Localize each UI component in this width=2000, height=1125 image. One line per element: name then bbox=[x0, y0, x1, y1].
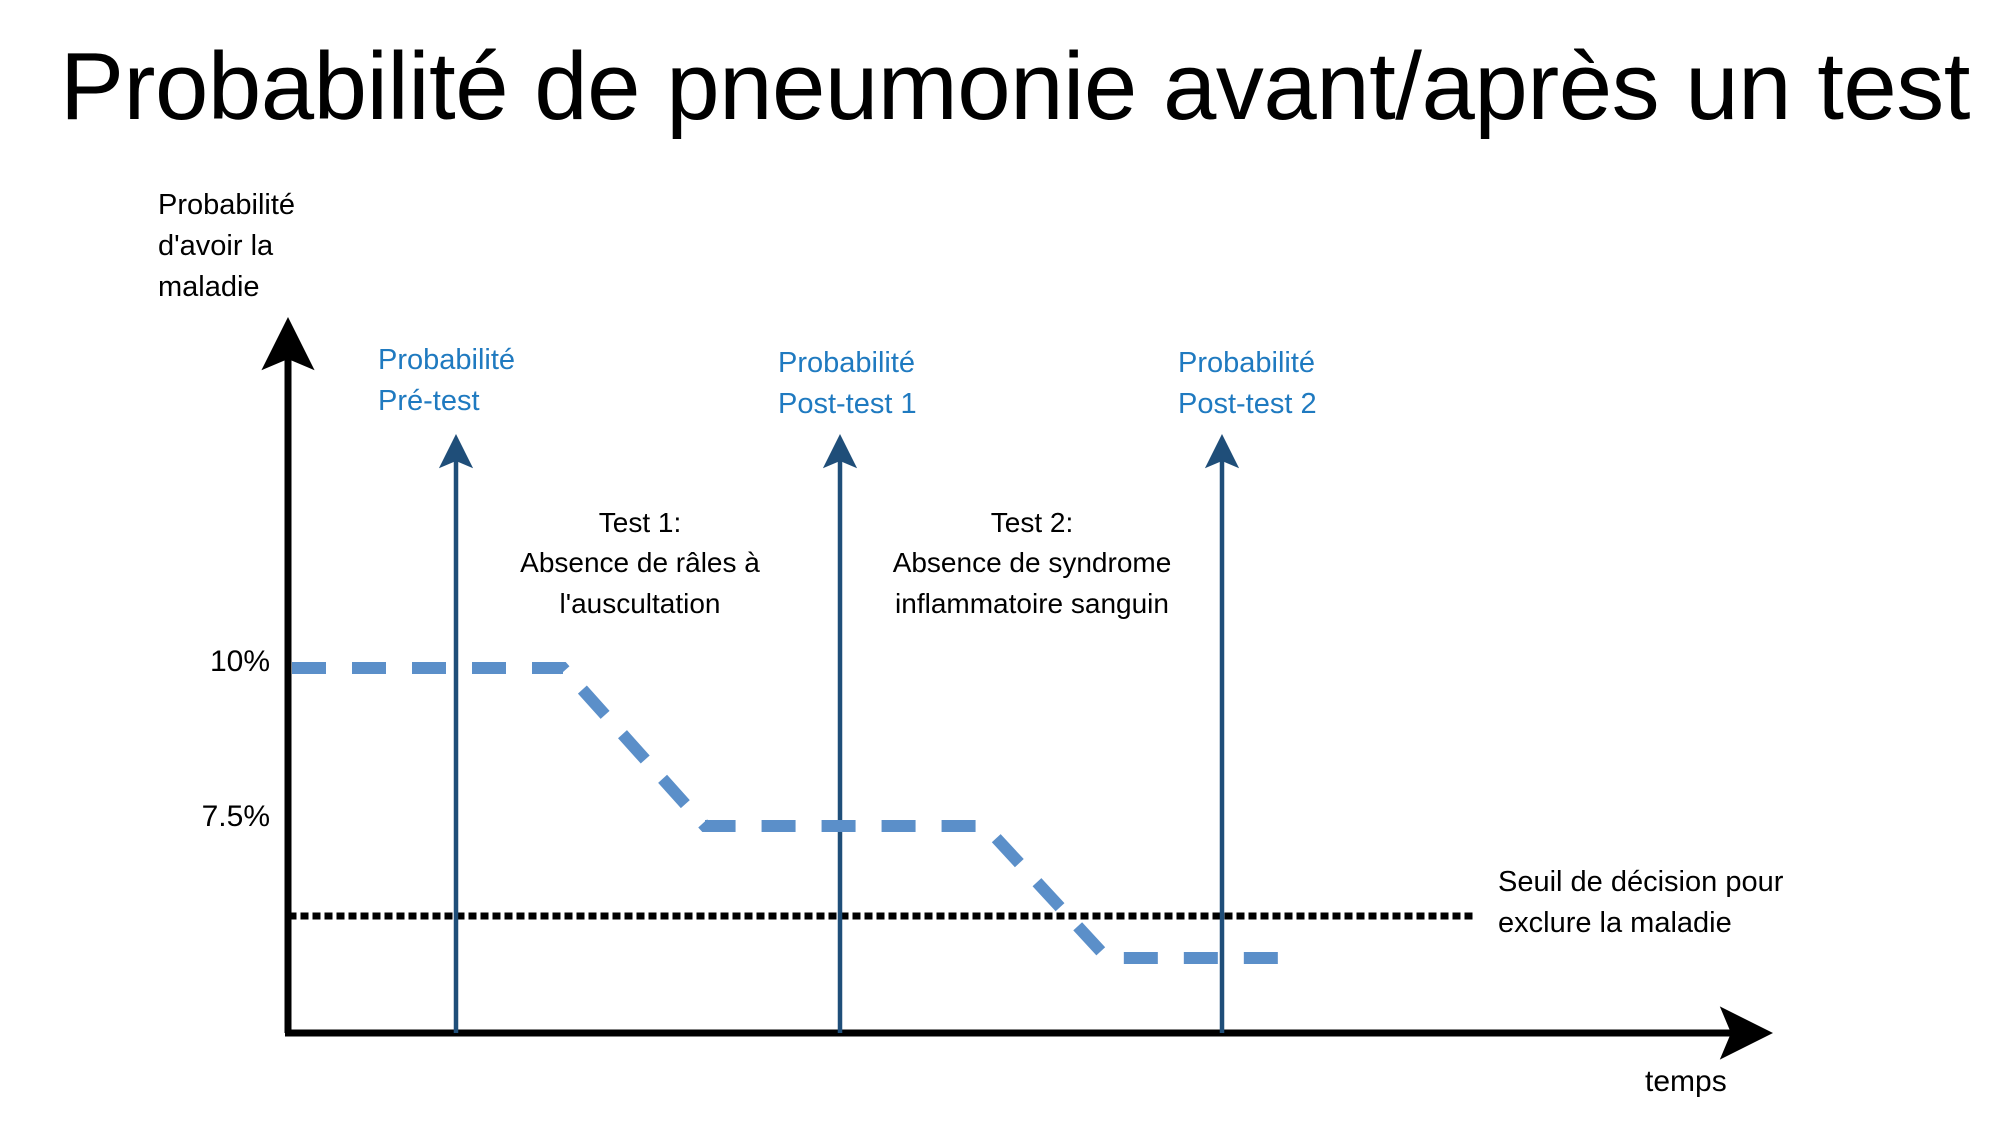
chart-plot-area bbox=[0, 0, 2000, 1125]
probability-curve bbox=[292, 668, 1288, 958]
slide-canvas: Probabilité de pneumonie avant/après un … bbox=[0, 0, 2000, 1125]
